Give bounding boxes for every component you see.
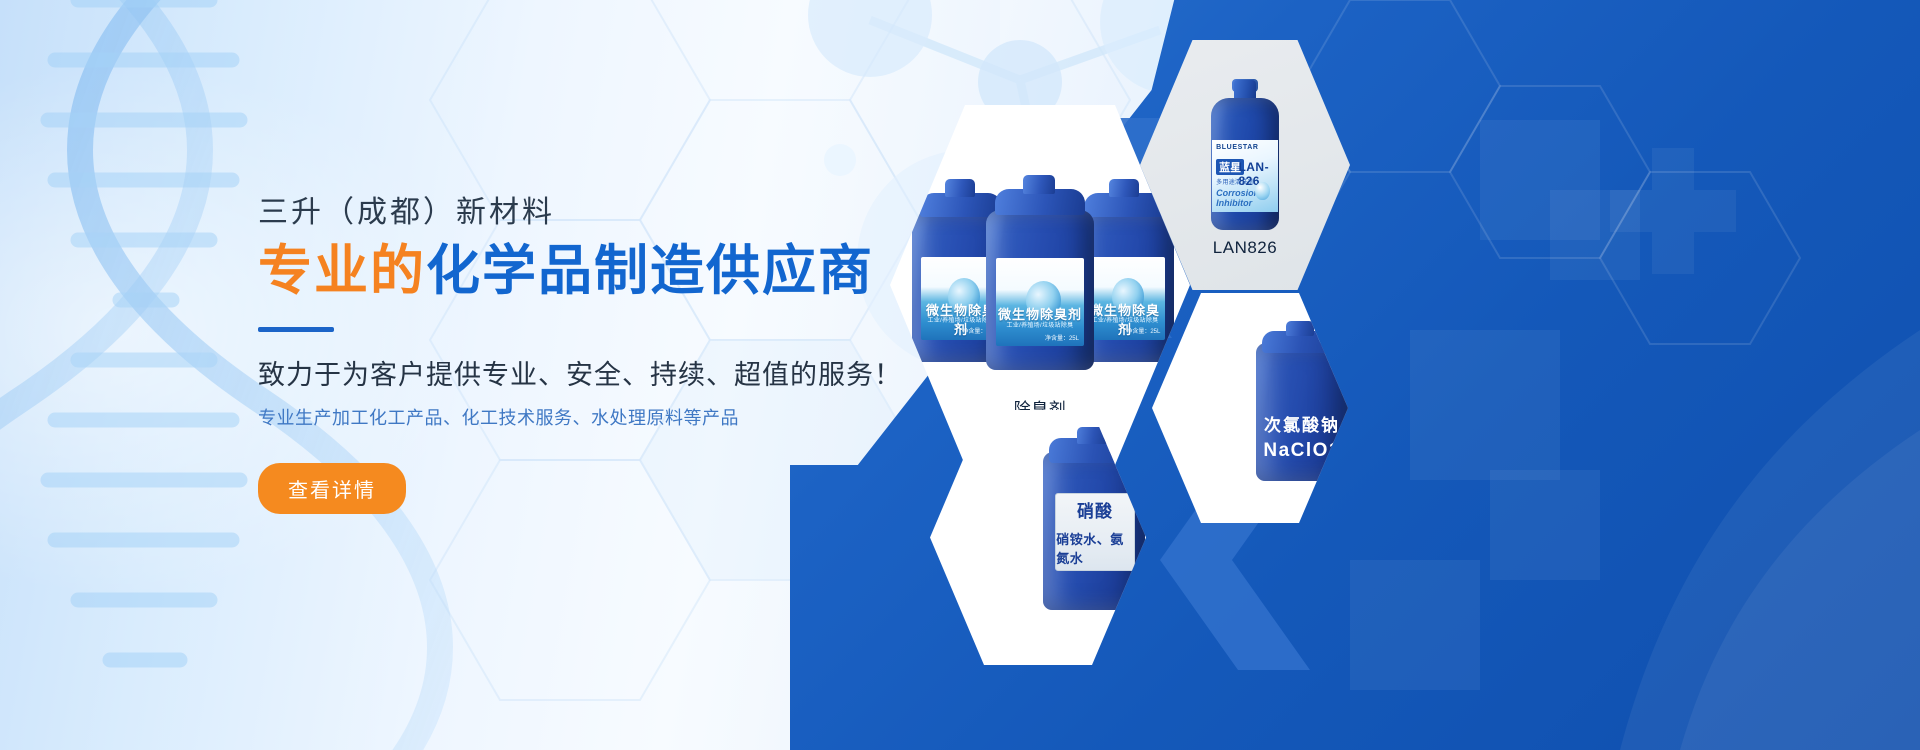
bottle-brand-text: BLUESTAR — [1216, 144, 1258, 151]
hero-banner: 三升（成都）新材料 专业的化学品制造供应商 致力于为客户提供专业、安全、持续、超… — [0, 0, 1920, 750]
hero-tagline: 专业生产加工化工产品、化工技术服务、水处理原料等产品 — [258, 406, 918, 431]
product-card-naclo[interactable]: 次氯酸钠 NaClO1 次氯酸钠 — [1152, 293, 1348, 523]
product-card-lan826[interactable]: BLUESTAR 蓝星 LAN-826 多用途清洗剂 Corrosion Inh… — [1140, 40, 1350, 290]
headline-accent: 专业的 — [258, 241, 426, 301]
jerrycan-nitric-acid: 硝酸 硝铵水、氨氮水 — [1043, 452, 1145, 610]
bottle-bubble-decoration — [1255, 182, 1269, 201]
page-title: 专业的化学品制造供应商 — [258, 241, 918, 301]
hero-copy-block: 三升（成都）新材料 专业的化学品制造供应商 致力于为客户提供专业、安全、持续、超… — [258, 196, 918, 514]
can-label-sub: 硝铵水、氨氮水 — [1056, 529, 1134, 567]
hexagon-frame-nitric-acid: 硝酸 硝铵水、氨氮水 硝酸【工业/AR试剂】 — [930, 410, 1146, 665]
product-caption-lan826: LAN826 — [1140, 238, 1350, 258]
hexagon-frame-lan826: BLUESTAR 蓝星 LAN-826 多用途清洗剂 Corrosion Inh… — [1140, 40, 1350, 290]
headline-rest: 化学品制造供应商 — [426, 241, 874, 301]
drum-label-sub: 工业/养殖场/垃圾站除臭 — [996, 320, 1085, 329]
jerrycan-naclo: 次氯酸钠 NaClO1 — [1256, 343, 1348, 481]
lan826-product-image: BLUESTAR 蓝星 LAN-826 多用途清洗剂 Corrosion Inh… — [1140, 70, 1350, 230]
can-label-cn: 次氯酸钠 — [1263, 415, 1340, 438]
can-label-cn: 硝酸 — [1077, 497, 1113, 522]
title-divider — [258, 327, 334, 332]
product-card-nitric-acid[interactable]: 硝酸 硝铵水、氨氮水 硝酸【工业/AR试剂】 — [930, 410, 1146, 665]
drum-front-center: 微生物除臭剂 工业/养殖场/垃圾站除臭 净含量：25L — [986, 210, 1094, 370]
hexagon-frame-naclo: 次氯酸钠 NaClO1 次氯酸钠 — [1152, 293, 1348, 523]
nitric-acid-product-image: 硝酸 硝铵水、氨氮水 — [930, 440, 1146, 610]
drum-label-volume: 净含量：25L — [1045, 333, 1079, 342]
bottle-lan826: BLUESTAR 蓝星 LAN-826 多用途清洗剂 Corrosion Inh… — [1206, 80, 1284, 230]
naclo-product-image: 次氯酸钠 NaClO1 — [1152, 331, 1348, 481]
bottle-desc-text: 多用途清洗剂 — [1216, 177, 1254, 186]
hero-subtitle: 致力于为客户提供专业、安全、持续、超值的服务！ — [258, 358, 918, 393]
can-label-en: NaClO1 — [1263, 438, 1340, 464]
company-name: 三升（成都）新材料 — [258, 196, 918, 229]
view-details-button[interactable]: 查看详情 — [258, 463, 406, 514]
